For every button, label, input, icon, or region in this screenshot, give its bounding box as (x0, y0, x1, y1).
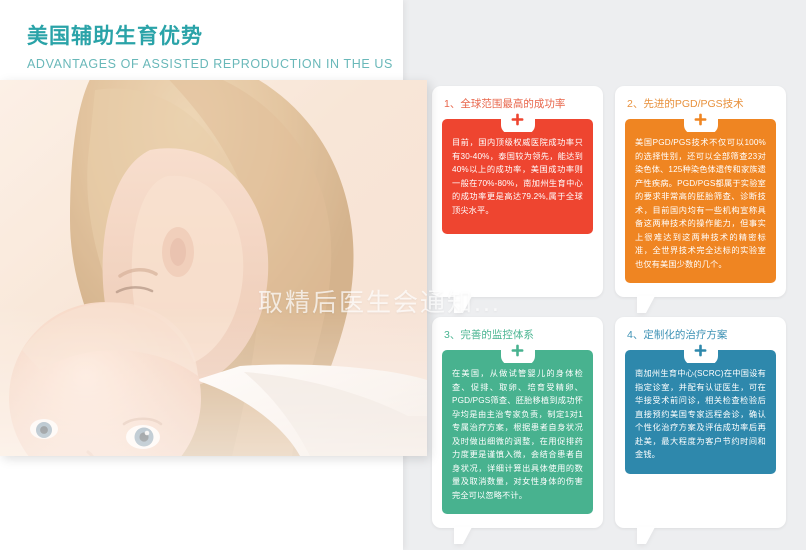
bubble-tail (637, 527, 655, 544)
advantage-card-2-body: 美国PGD/PGS技术不仅可以100%的选择性别，还可以全部筛查23对染色体、1… (635, 136, 766, 271)
bubble-tail (454, 527, 472, 544)
plus-icon (507, 339, 529, 361)
advantage-card-1-body: 目前，国内顶级权威医院成功率只有30-40%，泰国较为领先，能达到40%以上的成… (452, 136, 583, 217)
plus-icon (690, 339, 712, 361)
advantage-card-2[interactable]: 2、先进的PGD/PGS技术 美国PGD/PGS技术不仅可以100%的选择性别，… (615, 86, 786, 297)
page-subtitle: ADVANTAGES OF ASSISTED REPRODUCTION IN T… (27, 54, 393, 74)
advantage-card-4[interactable]: 4、定制化的治疗方案 南加州生育中心(SCRC)在中国设有指定诊室，并配有认证医… (615, 317, 786, 528)
advantage-cards: 1、全球范围最高的成功率 目前，国内顶级权威医院成功率只有30-40%，泰国较为… (432, 86, 786, 548)
advantage-card-3-body: 在美国，从做试管婴儿的身体检查、促排、取卵、培育受精卵、PGD/PGS筛查、胚胎… (452, 367, 583, 502)
advantage-card-1-panel: 目前，国内顶级权威医院成功率只有30-40%，泰国较为领先，能达到40%以上的成… (442, 119, 593, 234)
advantage-card-1[interactable]: 1、全球范围最高的成功率 目前，国内顶级权威医院成功率只有30-40%，泰国较为… (432, 86, 603, 297)
plus-icon (690, 108, 712, 130)
advantage-card-4-panel: 南加州生育中心(SCRC)在中国设有指定诊室，并配有认证医生，可在华接受术前问诊… (625, 350, 776, 474)
page-title: 美国辅助生育优势 (27, 24, 393, 50)
hero-photo (0, 80, 427, 456)
plus-icon (507, 108, 529, 130)
page-header: 美国辅助生育优势 ADVANTAGES OF ASSISTED REPRODUC… (27, 24, 393, 74)
card-row-2: 3、完善的监控体系 在美国，从做试管婴儿的身体检查、促排、取卵、培育受精卵、PG… (432, 317, 786, 528)
advantage-card-3-panel: 在美国，从做试管婴儿的身体检查、促排、取卵、培育受精卵、PGD/PGS筛查、胚胎… (442, 350, 593, 514)
advantage-card-3[interactable]: 3、完善的监控体系 在美国，从做试管婴儿的身体检查、促排、取卵、培育受精卵、PG… (432, 317, 603, 528)
card-row-1: 1、全球范围最高的成功率 目前，国内顶级权威医院成功率只有30-40%，泰国较为… (432, 86, 786, 297)
advantage-card-4-body: 南加州生育中心(SCRC)在中国设有指定诊室，并配有认证医生，可在华接受术前问诊… (635, 367, 766, 462)
bubble-tail (637, 296, 655, 313)
advantage-card-2-panel: 美国PGD/PGS技术不仅可以100%的选择性别，还可以全部筛查23对染色体、1… (625, 119, 776, 283)
hero-photo-image (0, 80, 427, 456)
bubble-tail (454, 296, 472, 313)
